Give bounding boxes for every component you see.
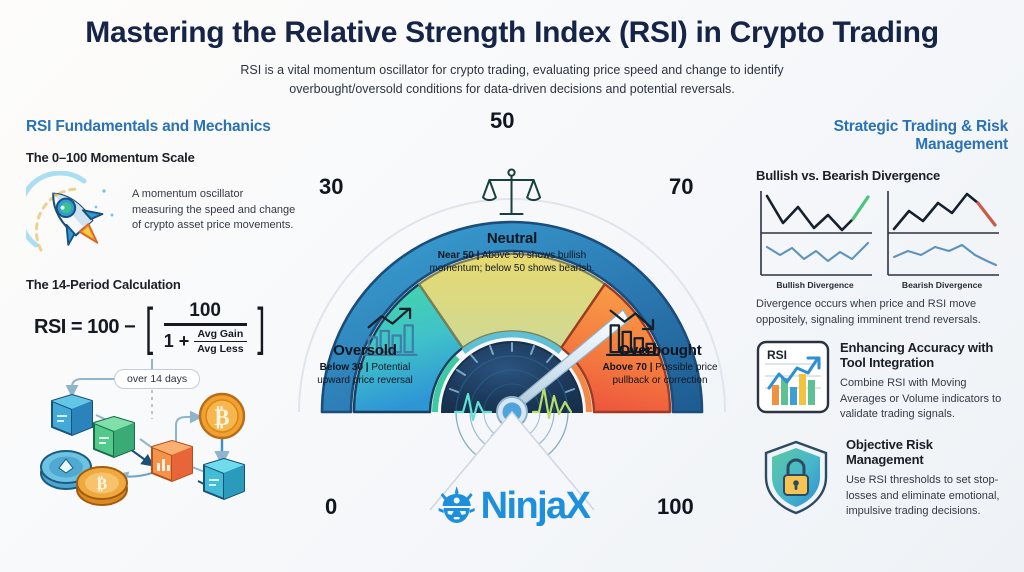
- block-tool-integration-body: Combine RSI with Moving Averages or Volu…: [840, 376, 1008, 423]
- scales-balance-icon: [483, 169, 540, 214]
- block-14-period: The 14-Period Calculation RSI = 100 − [ …: [26, 277, 296, 507]
- brand-name: NinjaX: [481, 487, 590, 525]
- bullish-reversal-line: [853, 197, 868, 219]
- gauge-label-neutral: Neutral Near 50 | Above 50 shows bullish…: [412, 230, 612, 275]
- block-risk-management-title: Objective Risk Management: [846, 437, 1008, 467]
- over-14-days-pill: over 14 days: [114, 369, 200, 389]
- caption-bearish-divergence: Bearish Divergence: [883, 280, 1001, 290]
- block-divergence-body: Divergence occurs when price and RSI mov…: [756, 297, 1008, 328]
- gauge-tick-0: 0: [325, 494, 337, 520]
- rocket-icon: [26, 171, 122, 263]
- formula-lead: RSI = 100 −: [34, 316, 135, 339]
- bitcoin-coin-icon: ₿: [200, 394, 244, 438]
- block-risk-management: Objective Risk Management Use RSI thresh…: [756, 437, 1008, 520]
- left-column: RSI Fundamentals and Mechanics The 0–100…: [26, 118, 296, 507]
- gauge-tick-100: 100: [657, 494, 694, 520]
- gauge-label-oversold-emphasis: Below 30 |: [320, 362, 369, 373]
- shield-lock-icon: [756, 437, 836, 517]
- rsi-icon-label: RSI: [767, 348, 787, 362]
- block-momentum-scale-body: A momentum oscillator measuring the spee…: [132, 171, 296, 234]
- brand-logo: NinjaX: [435, 484, 590, 528]
- right-section-heading: Strategic Trading & Risk Management: [756, 118, 1008, 154]
- bearish-reversal-line: [978, 203, 995, 225]
- block-momentum-scale: The 0–100 Momentum Scale: [26, 150, 296, 263]
- header: Mastering the Relative Strength Index (R…: [0, 0, 1024, 100]
- gauge-label-overbought-title: Overbought: [595, 342, 725, 359]
- block-tool-integration-title: Enhancing Accuracy with Tool Integration: [840, 340, 1008, 370]
- ninja-helmet-icon: [435, 484, 479, 528]
- divergence-charts: [756, 189, 1008, 277]
- gauge-label-neutral-title: Neutral: [412, 230, 612, 247]
- ratio-bar: [194, 341, 246, 343]
- content-board: RSI Fundamentals and Mechanics The 0–100…: [0, 118, 1024, 572]
- caption-bullish-divergence: Bullish Divergence: [756, 280, 874, 290]
- rsi-chart-icon: RSI: [756, 340, 830, 414]
- gauge-label-oversold-title: Oversold: [303, 342, 427, 359]
- gauge-tick-70: 70: [669, 174, 693, 200]
- page-subtitle: RSI is a vital momentum oscillator for c…: [202, 61, 822, 100]
- block-divergence-title: Bullish vs. Bearish Divergence: [756, 168, 1008, 183]
- page-title: Mastering the Relative Strength Index (R…: [0, 16, 1024, 49]
- gauge-tick-50: 50: [490, 108, 514, 134]
- block-tool-integration: RSI Enhancing Accuracy with Tool Integra…: [756, 340, 1008, 423]
- divergence-captions: Bullish Divergence Bearish Divergence: [756, 280, 1008, 290]
- gauge-label-overbought: Overbought Above 70 | Possible price pul…: [595, 342, 725, 387]
- rsi-gauge: 50 30 70 0 100 Neutral Near 50 | Above 5…: [277, 112, 747, 552]
- svg-text:₿: ₿: [97, 475, 108, 493]
- bearish-divergence-chart: [883, 189, 1001, 277]
- formula-denominator-one: 1 +: [164, 331, 190, 352]
- formula-fraction: 100 1 + Avg Gain Avg Less: [164, 300, 247, 355]
- block-divergence: Bullish vs. Bearish Divergence: [756, 168, 1008, 328]
- gauge-label-overbought-emphasis: Above 70 |: [602, 362, 652, 373]
- block-risk-management-body: Use RSI thresholds to set stop-losses an…: [846, 473, 1008, 520]
- bullish-divergence-chart: [756, 189, 874, 277]
- formula-ratio: Avg Gain Avg Less: [194, 328, 246, 356]
- bracket-close-icon: ]: [257, 309, 265, 346]
- gauge-tick-30: 30: [319, 174, 343, 200]
- rsi-formula: RSI = 100 − [ 100 1 + Avg Gain Avg Less …: [34, 300, 296, 355]
- formula-ratio-bottom: Avg Less: [194, 343, 246, 355]
- gauge-label-neutral-emphasis: Near 50 |: [438, 250, 480, 261]
- right-column: Strategic Trading & Risk Management Bull…: [756, 118, 1008, 520]
- block-momentum-scale-title: The 0–100 Momentum Scale: [26, 150, 296, 165]
- formula-numerator: 100: [179, 300, 231, 323]
- bracket-open-icon: [: [146, 309, 154, 346]
- gauge-label-oversold: Oversold Below 30 | Potential upward pri…: [303, 342, 427, 387]
- svg-text:₿: ₿: [214, 405, 229, 430]
- formula-ratio-top: Avg Gain: [195, 328, 247, 340]
- block-14-period-title: The 14-Period Calculation: [26, 277, 296, 292]
- left-section-heading: RSI Fundamentals and Mechanics: [26, 118, 296, 136]
- crypto-flow-diagram: ₿ ₿: [26, 357, 298, 507]
